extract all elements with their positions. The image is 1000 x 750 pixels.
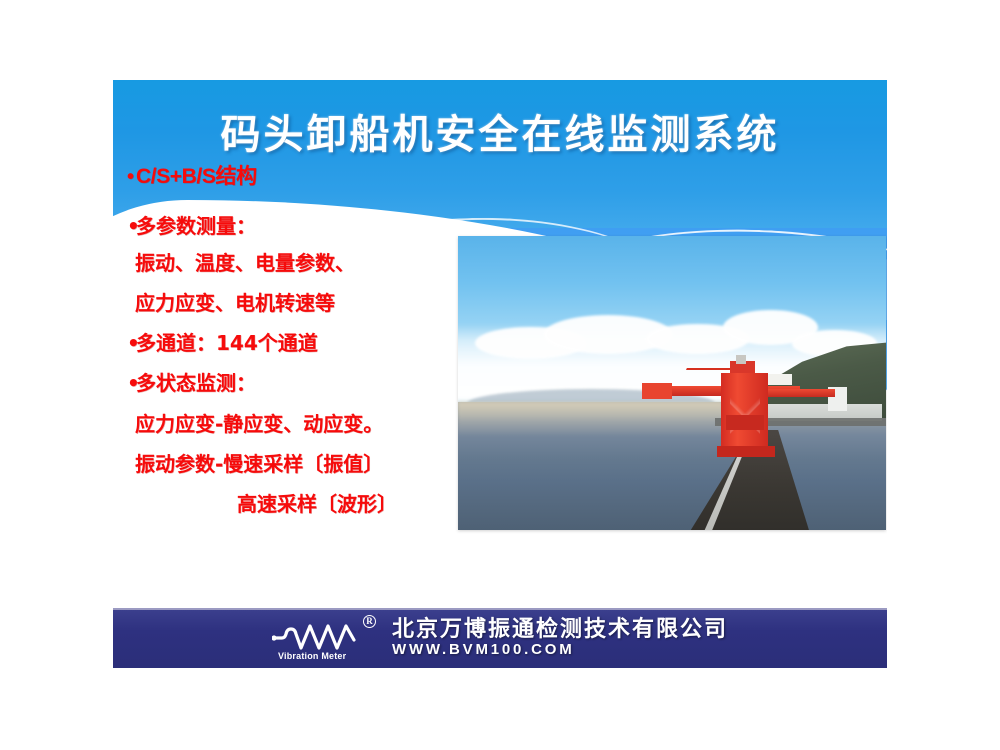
list-item: 应力应变-静应变、动应变。 — [125, 414, 383, 434]
footer-content: R Vibration Meter 北京万博振通检测技术有限公司 WWW.BVM… — [272, 616, 728, 660]
list-item-label: 多通道：144个通道 — [136, 331, 318, 355]
list-item: •多通道：144个通道 — [125, 333, 318, 353]
vibration-waveform-icon — [272, 618, 372, 652]
list-item: •C/S+B/S结构 — [125, 166, 257, 187]
bullet-marker: • — [127, 333, 136, 353]
list-item: 振动参数-慢速采样〔振值〕 — [125, 454, 383, 474]
photo-crane-mast — [736, 355, 745, 364]
photo-crane-tower — [721, 373, 768, 455]
registered-trademark-icon: R — [363, 615, 376, 628]
harbor-crane-photo — [458, 236, 886, 530]
list-item: •多状态监测： — [125, 373, 256, 393]
list-item-label: 应力应变、电机转速等 — [135, 291, 335, 315]
photo-crane-boom-tip — [642, 383, 672, 399]
photo-crane-machine-house — [726, 415, 765, 430]
list-item-label: 多状态监测： — [136, 371, 256, 395]
footer-text-block: 北京万博振通检测技术有限公司 WWW.BVM100.COM — [392, 618, 728, 658]
list-item: 振动、温度、电量参数、 — [125, 253, 355, 273]
photo-sea-sheen — [458, 402, 723, 437]
slide-canvas: 码头卸船机安全在线监测系统 •C/S+B/S结构 •多参数测量： 振动、温度、电… — [113, 80, 887, 668]
company-name: 北京万博振通检测技术有限公司 — [392, 618, 728, 641]
slide-root: 码头卸船机安全在线监测系统 •C/S+B/S结构 •多参数测量： 振动、温度、电… — [0, 0, 1000, 750]
footer-bar: R Vibration Meter 北京万博振通检测技术有限公司 WWW.BVM… — [113, 608, 887, 668]
list-item: •多参数测量： — [125, 216, 256, 236]
list-item: 高速采样〔波形〕 — [125, 494, 397, 514]
list-item-label: 振动参数-慢速采样〔振值〕 — [135, 452, 383, 476]
list-item-label: 多参数测量： — [136, 214, 256, 238]
bullet-marker: • — [127, 373, 136, 393]
page-title: 码头卸船机安全在线监测系统 — [113, 102, 887, 160]
company-logo: R Vibration Meter — [272, 616, 378, 660]
photo-crane-arm — [762, 389, 835, 397]
photo-crane-base — [717, 446, 775, 457]
bullet-marker: • — [127, 167, 136, 187]
list-item-label: 应力应变-静应变、动应变。 — [135, 412, 383, 436]
bullet-marker: • — [127, 216, 136, 236]
logo-caption: Vibration Meter — [278, 651, 346, 661]
list-item: 应力应变、电机转速等 — [125, 293, 335, 313]
list-item-label: C/S+B/S结构 — [136, 165, 257, 188]
list-item-label: 高速采样〔波形〕 — [237, 492, 397, 516]
list-item-label: 振动、温度、电量参数、 — [135, 251, 355, 275]
company-website: WWW.BVM100.COM — [392, 642, 728, 658]
